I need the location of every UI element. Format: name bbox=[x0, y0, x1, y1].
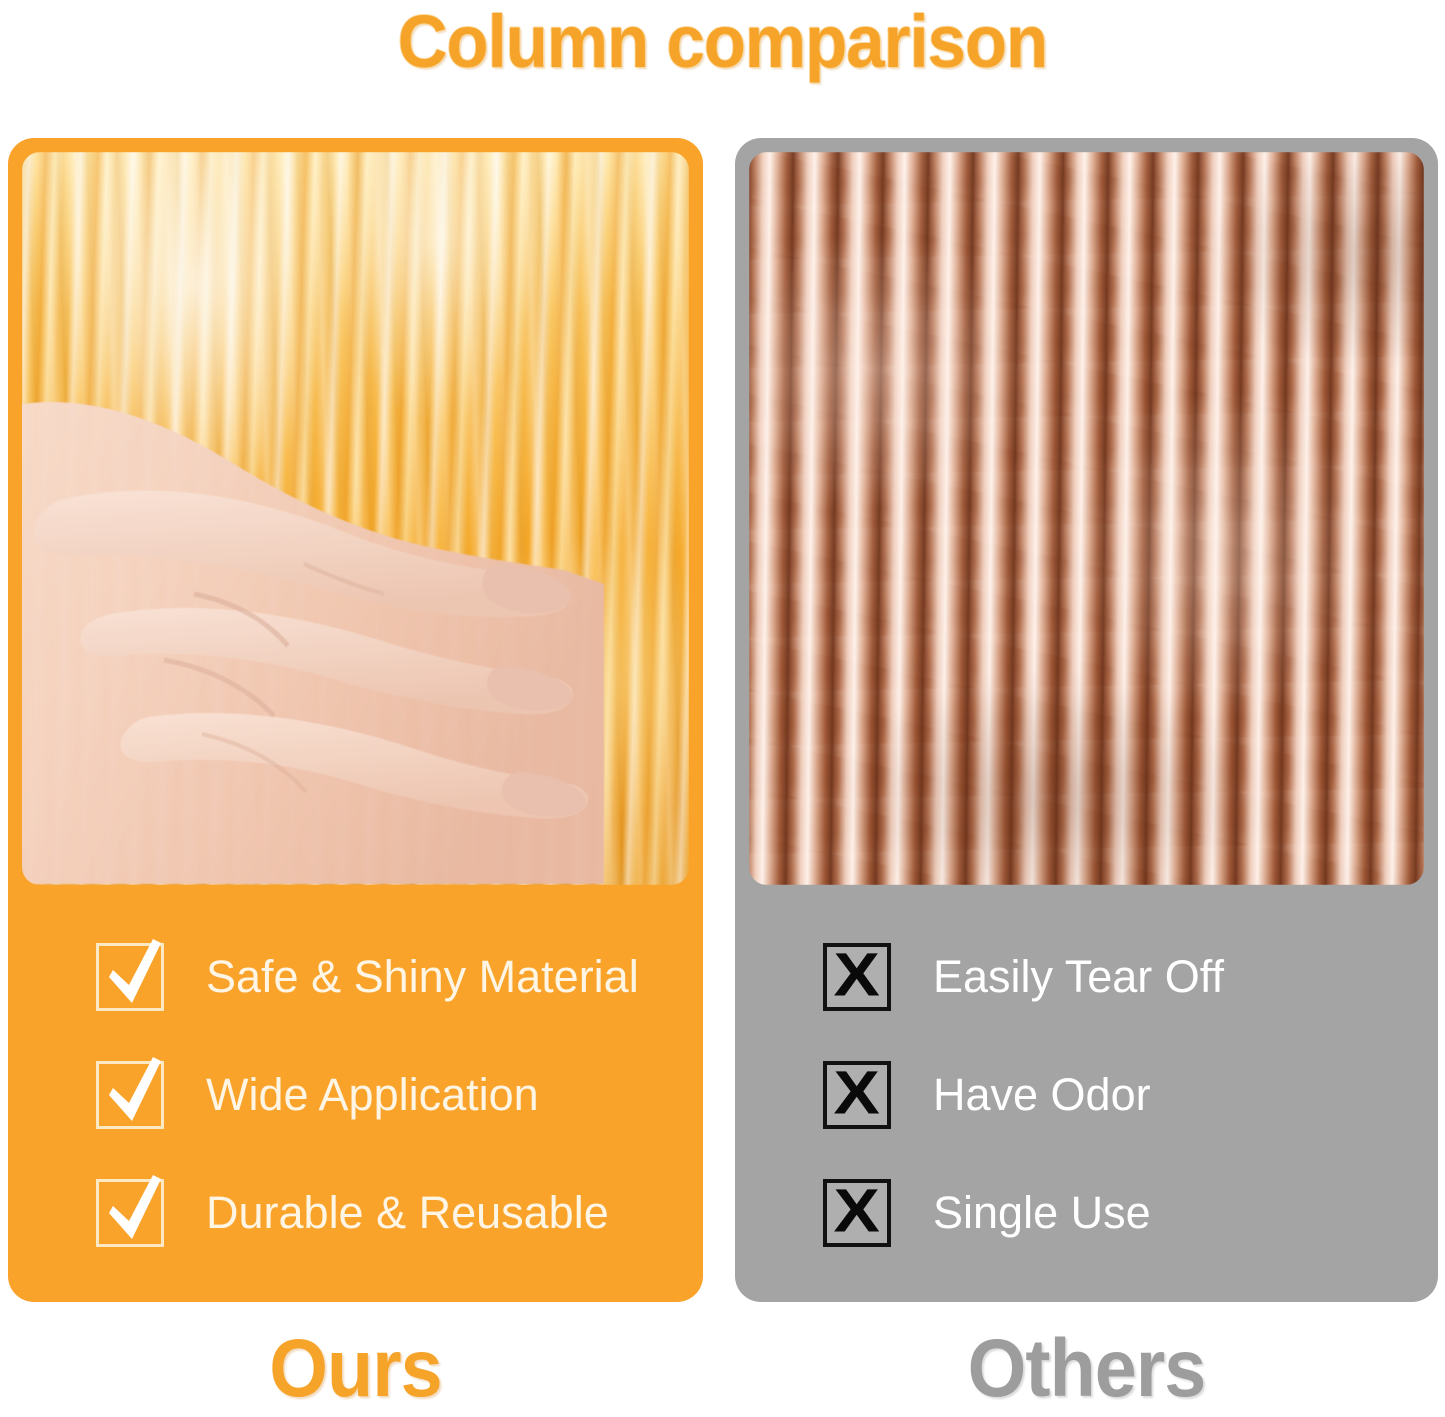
list-item: Safe & Shiny Material bbox=[8, 918, 703, 1036]
comparison-panels: Safe & Shiny Material Wide Application D… bbox=[0, 138, 1445, 1303]
ours-product-photo bbox=[22, 152, 689, 885]
list-item: X Single Use bbox=[735, 1154, 1438, 1272]
list-item: X Easily Tear Off bbox=[735, 918, 1438, 1036]
x-icon: X bbox=[823, 1061, 891, 1129]
feature-label: Durable & Reusable bbox=[206, 1188, 609, 1238]
others-feature-list: X Easily Tear Off X Have Odor X Single U… bbox=[735, 918, 1438, 1272]
x-mark: X bbox=[834, 1183, 880, 1242]
check-icon bbox=[96, 943, 164, 1011]
caption-others: Others bbox=[763, 1326, 1410, 1412]
list-item: Durable & Reusable bbox=[8, 1154, 703, 1272]
feature-label: Easily Tear Off bbox=[933, 952, 1224, 1002]
caption-ours: Ours bbox=[36, 1326, 675, 1412]
rose-gold-foil-fringe-texture bbox=[749, 152, 1424, 885]
feature-label: Have Odor bbox=[933, 1070, 1151, 1120]
page-title: Column comparison bbox=[51, 2, 1395, 82]
feature-label: Wide Application bbox=[206, 1070, 539, 1120]
check-icon bbox=[96, 1061, 164, 1129]
feature-label: Safe & Shiny Material bbox=[206, 952, 639, 1002]
feature-label: Single Use bbox=[933, 1188, 1151, 1238]
x-mark: X bbox=[834, 1065, 880, 1124]
x-mark: X bbox=[834, 947, 880, 1006]
check-icon bbox=[96, 1179, 164, 1247]
ours-feature-list: Safe & Shiny Material Wide Application D… bbox=[8, 918, 703, 1272]
x-icon: X bbox=[823, 1179, 891, 1247]
others-product-photo bbox=[749, 152, 1424, 885]
panel-others: X Easily Tear Off X Have Odor X Single U… bbox=[735, 138, 1438, 1302]
list-item: Wide Application bbox=[8, 1036, 703, 1154]
x-icon: X bbox=[823, 943, 891, 1011]
panel-ours: Safe & Shiny Material Wide Application D… bbox=[8, 138, 703, 1302]
list-item: X Have Odor bbox=[735, 1036, 1438, 1154]
hand-illustration bbox=[22, 264, 664, 884]
